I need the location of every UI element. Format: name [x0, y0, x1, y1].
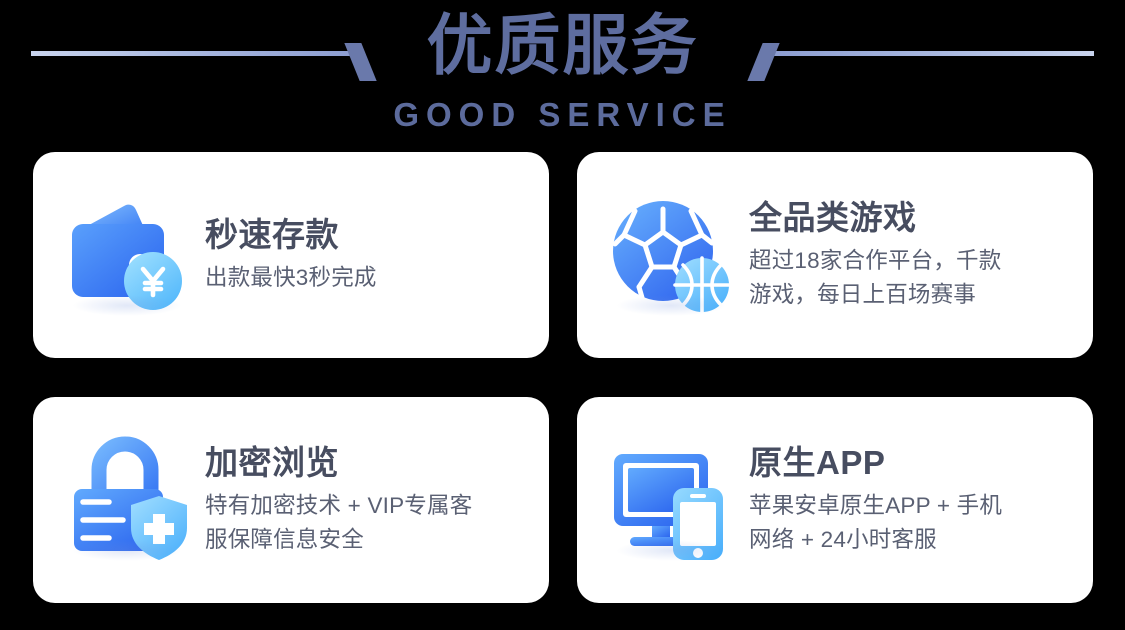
page-title: 优质服务	[0, 8, 1125, 82]
feature-card-text: 全品类游戏 超过18家合作平台，千款 游戏，每日上百场赛事	[737, 198, 1075, 312]
lock-shield-icon	[61, 434, 193, 566]
feature-card-deposit[interactable]: 秒速存款 出款最快3秒完成	[33, 152, 549, 358]
service-feature-banner: 优质服务 GOOD SERVICE	[0, 0, 1125, 630]
monitor-phone-icon	[605, 434, 737, 566]
feature-card-description-line: 出款最快3秒完成	[205, 261, 531, 295]
feature-card-title: 秒速存款	[205, 215, 531, 255]
feature-card-text: 加密浏览 特有加密技术 + VIP专属客 服保障信息安全	[193, 443, 531, 557]
feature-card-text: 原生APP 苹果安卓原生APP + 手机 网络 + 24小时客服	[737, 443, 1075, 557]
feature-card-description-line: 超过18家合作平台，千款	[749, 244, 1075, 278]
feature-card-title: 加密浏览	[205, 443, 531, 483]
soccer-basketball-icon	[605, 189, 737, 321]
feature-card-description-line: 服保障信息安全	[205, 523, 531, 557]
feature-card-description: 出款最快3秒完成	[205, 261, 531, 295]
feature-card-description-line: 网络 + 24小时客服	[749, 523, 1075, 557]
wallet-yen-icon	[61, 189, 193, 321]
feature-card-games[interactable]: 全品类游戏 超过18家合作平台，千款 游戏，每日上百场赛事	[577, 152, 1093, 358]
feature-card-description-line: 苹果安卓原生APP + 手机	[749, 489, 1075, 523]
feature-card-description-line: 游戏，每日上百场赛事	[749, 278, 1075, 312]
feature-card-native-app[interactable]: 原生APP 苹果安卓原生APP + 手机 网络 + 24小时客服	[577, 397, 1093, 603]
feature-card-description-line: 特有加密技术 + VIP专属客	[205, 489, 531, 523]
feature-card-text: 秒速存款 出款最快3秒完成	[193, 215, 531, 295]
feature-card-title: 原生APP	[749, 443, 1075, 483]
page-subtitle: GOOD SERVICE	[0, 97, 1125, 133]
banner-header: 优质服务 GOOD SERVICE	[0, 0, 1125, 146]
feature-card-grid: 秒速存款 出款最快3秒完成	[33, 152, 1093, 603]
feature-card-description: 苹果安卓原生APP + 手机 网络 + 24小时客服	[749, 489, 1075, 557]
feature-card-description: 特有加密技术 + VIP专属客 服保障信息安全	[205, 489, 531, 557]
feature-card-title: 全品类游戏	[749, 198, 1075, 238]
feature-card-encryption[interactable]: 加密浏览 特有加密技术 + VIP专属客 服保障信息安全	[33, 397, 549, 603]
feature-card-description: 超过18家合作平台，千款 游戏，每日上百场赛事	[749, 244, 1075, 312]
